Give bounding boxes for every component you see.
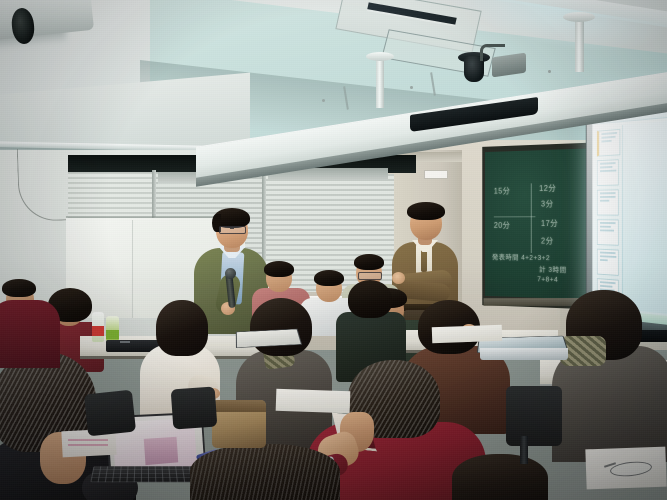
presentation-slide-area	[622, 120, 667, 315]
paper-text-lines	[68, 436, 108, 446]
slide-thumbnail	[597, 189, 619, 215]
chalkboard-text: 12分	[539, 183, 556, 194]
chalkboard-text: 計 3時間	[539, 265, 567, 275]
papers-stack-right	[432, 325, 503, 343]
slide-thumbnail	[597, 219, 619, 246]
chalkboard-text: 2分	[541, 236, 554, 247]
chalkboard-text: 17分	[541, 218, 558, 229]
chalkboard-text: 3分	[541, 199, 554, 210]
bag-flap	[212, 400, 266, 412]
green-tea-label	[106, 330, 119, 339]
rail-support-rod	[376, 56, 384, 108]
chalkboard-text: 20分	[494, 220, 510, 231]
laptop-hinge	[120, 341, 130, 343]
chalkboard-divider-line	[531, 183, 532, 253]
laptop-screen-image	[144, 437, 178, 465]
foreground-bottom-hair	[190, 444, 340, 500]
laptop-keyboard[interactable]	[90, 466, 201, 482]
chalkboard-text: 15分	[494, 186, 510, 197]
rail-screw	[548, 70, 551, 73]
laptop-base-right[interactable]	[480, 348, 568, 360]
person-foreground-bottom-center	[190, 444, 340, 500]
papers-center	[276, 389, 351, 414]
chair-leg	[520, 436, 528, 464]
pink-shirt-hair	[264, 261, 294, 277]
slide-thumbnail	[597, 159, 619, 186]
rail-support-rod	[575, 16, 584, 72]
chair-left	[84, 390, 136, 437]
chair-center-left	[171, 387, 218, 430]
rail-screw	[410, 86, 413, 89]
white-sweater-hair	[156, 300, 208, 356]
person-left-dark-red-body	[0, 300, 60, 368]
chalkboard: 15分 12分 3分 20分 17分 2分 発表時間 4+2+3+2 計 3時間…	[485, 148, 602, 300]
chalkboard-text: 発表時間 4+2+3+2	[492, 252, 550, 263]
slide-thumbnail	[597, 129, 620, 157]
grey-jacket-hair	[354, 254, 384, 270]
bottle-label	[92, 326, 104, 336]
glasses-bridge	[230, 228, 234, 229]
chair-right	[506, 386, 562, 446]
person-far-right-grey	[552, 290, 667, 460]
chalkboard-text: 7+8+4	[537, 276, 558, 283]
wall-sign	[424, 170, 448, 179]
glasses-icon	[358, 272, 382, 280]
rail-rod-cap	[563, 12, 595, 22]
standing-man-hair	[407, 202, 445, 220]
slide-thumbnail	[597, 249, 619, 276]
dark-jacket-hair	[348, 280, 392, 318]
grey-sweater-hair	[250, 298, 312, 356]
microphone-head-icon	[225, 268, 236, 279]
rail-screw	[322, 99, 325, 102]
far-left-hair	[2, 279, 36, 297]
rail-rod-cap	[366, 52, 394, 61]
photograph-classroom-seminar: 15分 12分 3分 20分 17分 2分 発表時間 4+2+3+2 計 3時間…	[0, 0, 667, 500]
chalkboard-divider-line	[494, 216, 536, 217]
bottom-right-hair	[452, 454, 548, 500]
